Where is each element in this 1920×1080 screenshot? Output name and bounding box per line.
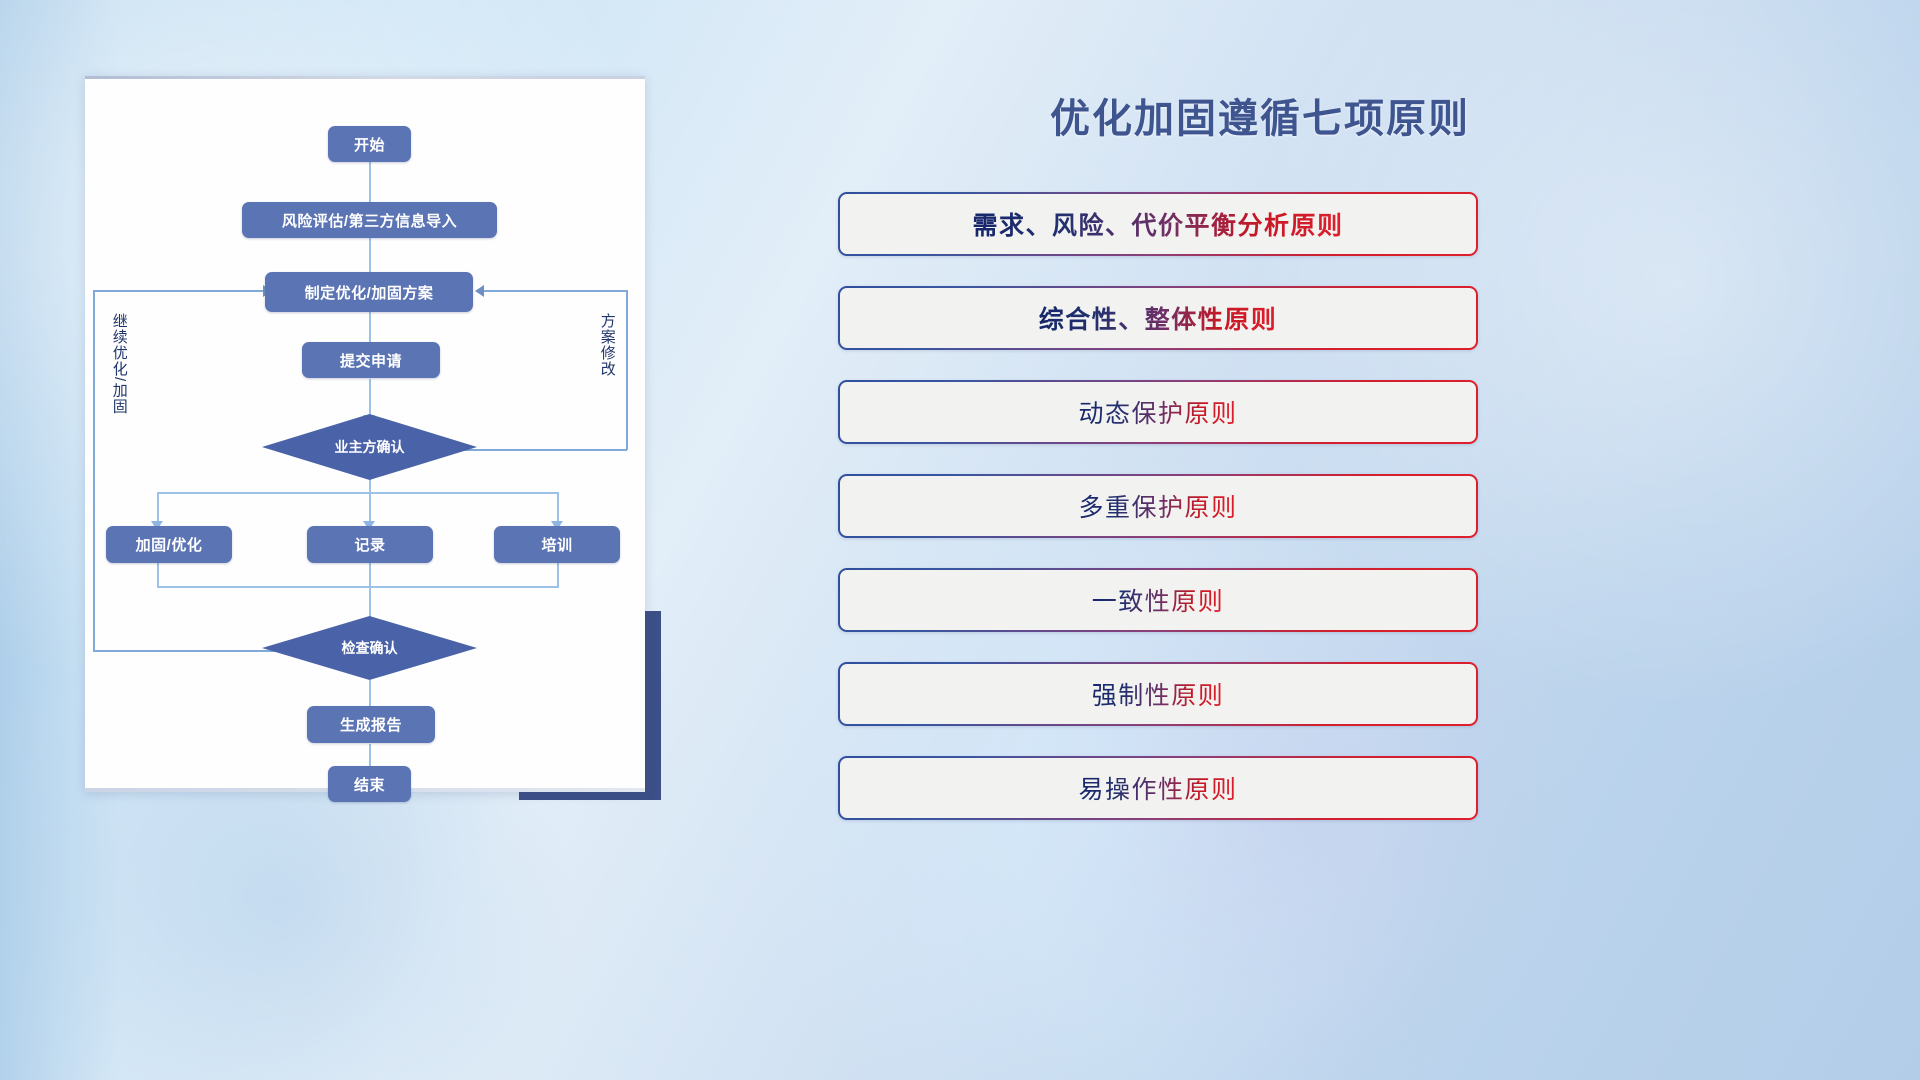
flow-node-end[interactable]: 结束 bbox=[328, 766, 411, 802]
flow-node-plan[interactable]: 制定优化/加固方案 bbox=[265, 272, 473, 312]
edge-loop-left-top bbox=[93, 290, 264, 292]
edge-loop-left-riser bbox=[93, 290, 95, 651]
principles-list: 需求、风险、代价平衡分析原则 综合性、整体性原则 动态保护原则 多重保护原则 一… bbox=[838, 192, 1478, 850]
flow-node-check-confirm-label: 检查确认 bbox=[342, 638, 398, 658]
principle-card-6[interactable]: 强制性原则 bbox=[838, 662, 1478, 726]
flowchart: 开始 风险评估/第三方信息导入 制定优化/加固方案 提交申请 业主方确认 加固/… bbox=[85, 76, 645, 792]
flow-node-risk-assessment-label: 风险评估/第三方信息导入 bbox=[282, 210, 457, 231]
principle-card-7-inner: 易操作性原则 bbox=[840, 758, 1476, 818]
flow-node-start-label: 开始 bbox=[354, 134, 385, 155]
flow-node-reinforce-label: 加固/优化 bbox=[136, 534, 203, 555]
edge-loop-right-top bbox=[484, 290, 627, 292]
principle-card-2-label: 综合性、整体性原则 bbox=[1039, 300, 1278, 336]
flow-node-end-label: 结束 bbox=[354, 774, 385, 795]
flow-node-risk-assessment[interactable]: 风险评估/第三方信息导入 bbox=[242, 202, 497, 238]
edge-train-down bbox=[557, 562, 559, 588]
edge-reinforce-down bbox=[157, 562, 159, 588]
principle-card-4[interactable]: 多重保护原则 bbox=[838, 474, 1478, 538]
flow-node-report[interactable]: 生成报告 bbox=[307, 706, 435, 743]
page-title: 优化加固遵循七项原则 bbox=[930, 86, 1590, 144]
flow-node-start[interactable]: 开始 bbox=[328, 126, 411, 162]
edge-owner-bus bbox=[157, 492, 557, 494]
flow-node-record-label: 记录 bbox=[354, 534, 385, 555]
arrowhead-loop-right-plan bbox=[475, 285, 484, 297]
principle-card-6-inner: 强制性原则 bbox=[840, 664, 1476, 724]
flow-node-reinforce[interactable]: 加固/优化 bbox=[106, 526, 232, 563]
principle-card-2[interactable]: 综合性、整体性原则 bbox=[838, 286, 1478, 350]
edge-assess-plan bbox=[369, 237, 371, 277]
edge-owner-record bbox=[369, 478, 371, 526]
flow-node-check-confirm[interactable]: 检查确认 bbox=[262, 616, 477, 680]
principle-card-3-inner: 动态保护原则 bbox=[840, 382, 1476, 442]
principle-card-3[interactable]: 动态保护原则 bbox=[838, 380, 1478, 444]
principle-card-5-label: 一致性原则 bbox=[1092, 582, 1225, 618]
edge-label-continue-optimize: 继续优化/加固 bbox=[111, 313, 127, 414]
edge-label-plan-revision: 方案修改 bbox=[599, 313, 615, 377]
edge-merge-bus bbox=[157, 586, 559, 588]
principle-card-3-label: 动态保护原则 bbox=[1078, 394, 1237, 430]
principle-card-4-inner: 多重保护原则 bbox=[840, 476, 1476, 536]
slide-canvas: 开始 风险评估/第三方信息导入 制定优化/加固方案 提交申请 业主方确认 加固/… bbox=[0, 0, 1920, 1080]
flow-node-report-label: 生成报告 bbox=[340, 714, 402, 735]
principle-card-1-inner: 需求、风险、代价平衡分析原则 bbox=[840, 194, 1476, 254]
flow-node-training[interactable]: 培训 bbox=[494, 526, 620, 563]
principle-card-1[interactable]: 需求、风险、代价平衡分析原则 bbox=[838, 192, 1478, 256]
principle-card-5[interactable]: 一致性原则 bbox=[838, 568, 1478, 632]
principle-card-4-label: 多重保护原则 bbox=[1078, 488, 1237, 524]
principle-card-7-label: 易操作性原则 bbox=[1078, 770, 1237, 806]
principle-card-1-label: 需求、风险、代价平衡分析原则 bbox=[972, 206, 1343, 242]
principle-card-5-inner: 一致性原则 bbox=[840, 570, 1476, 630]
flow-node-owner-confirm-label: 业主方确认 bbox=[335, 437, 405, 457]
flow-node-owner-confirm[interactable]: 业主方确认 bbox=[262, 414, 477, 480]
flowchart-panel: 开始 风险评估/第三方信息导入 制定优化/加固方案 提交申请 业主方确认 加固/… bbox=[85, 76, 645, 792]
flow-node-training-label: 培训 bbox=[541, 534, 572, 555]
flow-node-plan-label: 制定优化/加固方案 bbox=[305, 282, 434, 303]
principle-card-6-label: 强制性原则 bbox=[1092, 676, 1225, 712]
flow-node-submit[interactable]: 提交申请 bbox=[302, 342, 440, 378]
flow-node-submit-label: 提交申请 bbox=[340, 350, 402, 371]
principle-card-7[interactable]: 易操作性原则 bbox=[838, 756, 1478, 820]
edge-loop-right-riser bbox=[626, 290, 628, 450]
flow-node-record[interactable]: 记录 bbox=[307, 526, 433, 563]
principle-card-2-inner: 综合性、整体性原则 bbox=[840, 288, 1476, 348]
edge-start-assess bbox=[369, 162, 371, 206]
